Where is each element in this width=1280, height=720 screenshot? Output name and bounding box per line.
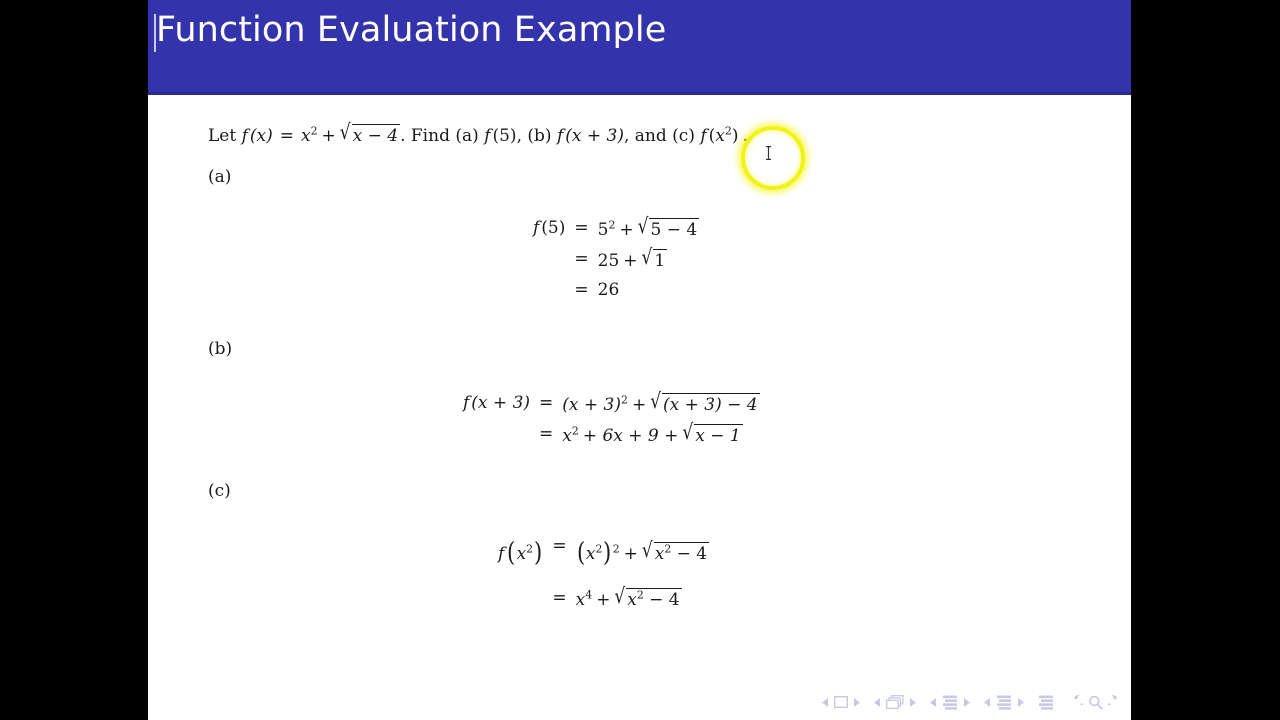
text-ibeam-cursor xyxy=(765,145,772,161)
equation-c-line2-radicand: x2 − 4 xyxy=(626,588,681,610)
prev-slide-triangle-icon[interactable] xyxy=(874,698,881,707)
magnifier-icon[interactable] xyxy=(1088,695,1103,710)
equation-b-rhs-exp: 2 xyxy=(621,393,628,406)
subsection-bars-icon[interactable] xyxy=(942,695,958,710)
equation-c-line2-radicand-tail: − 4 xyxy=(649,590,679,610)
equation-c-lhs-arg-base: x xyxy=(517,544,527,564)
video-stage: Function Evaluation Example Let f(x)=x2+… xyxy=(0,0,1280,720)
problem-part-c-label: (c) xyxy=(672,126,695,146)
back-arrow-icon[interactable] xyxy=(1068,695,1083,710)
equation-block-b: f(x + 3) = (x + 3)2+√(x + 3) − 4 = x2+ 6… xyxy=(463,393,760,446)
equation-a-line1-rhs: 52+√5 − 4 xyxy=(598,218,700,240)
equation-b-rhs-group: (x + 3) xyxy=(562,395,621,415)
problem-part-a-arg: (5) xyxy=(492,126,516,146)
equation-b-line2-base: x xyxy=(562,426,572,446)
equation-b-radical: √(x + 3) − 4 xyxy=(650,393,759,415)
forward-arrow-icon[interactable] xyxy=(1108,695,1123,710)
nav-group-slide[interactable] xyxy=(874,695,916,709)
equation-a-line3-rel: = xyxy=(565,280,597,300)
equation-b-line2-radical: √x − 1 xyxy=(682,424,742,446)
equation-block-c: f(x2) = (x2)2+√x2 − 4 = x4+√x2 − 4 xyxy=(498,536,709,610)
nav-group-section[interactable] xyxy=(984,695,1024,710)
slide-stack-icon[interactable] xyxy=(886,695,904,709)
equation-c-line2-rel: = xyxy=(543,588,575,610)
problem-lead: Let xyxy=(208,126,236,146)
equation-a-rhs-op: + xyxy=(615,220,637,240)
problem-period: . xyxy=(400,126,405,146)
prev-subsection-triangle-icon[interactable] xyxy=(930,698,937,707)
equation-c-rhs-group-base: x xyxy=(586,544,596,564)
problem-part-b-fn: f xyxy=(557,126,565,146)
equation-b-line2-rhs: x2+ 6x + 9 +√x − 1 xyxy=(562,424,759,446)
equation-a-line2-lhs xyxy=(533,249,565,271)
radical-sign-icon: √ xyxy=(642,245,654,270)
equation-a-radical: √5 − 4 xyxy=(638,218,700,240)
equation-a-line2-rhs: 25+√1 xyxy=(598,249,700,271)
equation-a-line2-radical: √1 xyxy=(642,249,668,271)
equation-block-a: f(5) = 52+√5 − 4 = 25+√1 = 26 xyxy=(533,218,699,300)
next-section-triangle-icon[interactable] xyxy=(1017,698,1024,707)
slide-title-bar: Function Evaluation Example xyxy=(148,0,1131,94)
problem-comma-2: , xyxy=(624,126,629,146)
equation-c-line2-op: + xyxy=(592,590,614,610)
equation-a-lhs-arg: (5) xyxy=(541,218,565,238)
radical-sign-icon: √ xyxy=(638,214,650,239)
equation-a-line2-op: + xyxy=(619,251,641,271)
equation-a-line3-lhs xyxy=(533,280,565,300)
equation-a-line2-rel: = xyxy=(565,249,597,271)
problem-part-c-arg-base: x xyxy=(715,126,725,146)
equation-c-lhs-fn: f xyxy=(498,544,506,564)
problem-square-base: x xyxy=(301,126,311,146)
equation-c-lhs-arg-exp: 2 xyxy=(526,542,533,555)
equation-c-rhs-paren-close: ) xyxy=(603,538,611,568)
beamer-navigation-bar[interactable] xyxy=(148,690,1131,714)
problem-instruction: Find xyxy=(411,126,450,146)
problem-fn-arg: (x) xyxy=(250,126,273,146)
equation-a-rhs-base: 5 xyxy=(598,220,609,240)
equation-c-lhs-paren-close: ) xyxy=(534,538,542,568)
equation-c-radical: √x2 − 4 xyxy=(642,542,709,564)
equation-b-line2-exp: 2 xyxy=(572,424,579,437)
equation-a-line1-rel: = xyxy=(565,218,597,240)
equation-c-rhs-op: + xyxy=(620,544,642,564)
part-label-b: (b) xyxy=(208,339,232,359)
presentation-slide: Function Evaluation Example Let f(x)=x2+… xyxy=(148,0,1131,720)
problem-part-c-arg-exp: 2 xyxy=(725,124,732,137)
title-bar-rule xyxy=(148,92,1131,95)
equation-c-radicand: x2 − 4 xyxy=(654,542,709,564)
radical-sign-icon: √ xyxy=(642,538,654,563)
equation-c-line2-base: x xyxy=(576,590,586,610)
prev-frame-triangle-icon[interactable] xyxy=(822,698,829,707)
equation-c-line2-radicand-exp: 2 xyxy=(637,588,644,601)
equation-a-line3-rhs: 26 xyxy=(598,280,700,300)
equation-c-radicand-tail: − 4 xyxy=(677,544,707,564)
equation-a-line2-radicand: 1 xyxy=(653,249,667,271)
nav-group-frame[interactable] xyxy=(822,696,860,708)
equation-b-rhs-op: + xyxy=(628,395,650,415)
problem-radical: √x − 4 xyxy=(340,124,400,146)
equation-c-line1-rhs: (x2)2+√x2 − 4 xyxy=(576,536,709,566)
frame-square-icon[interactable] xyxy=(834,696,848,708)
equation-b-line2-lhs xyxy=(463,424,530,446)
equation-c-rhs-group-exp: 2 xyxy=(596,542,603,555)
problem-part-c-fn: f xyxy=(700,126,708,146)
equation-b-line1-rhs: (x + 3)2+√(x + 3) − 4 xyxy=(562,393,759,415)
prev-section-triangle-icon[interactable] xyxy=(984,698,991,707)
equation-c-line1-lhs: f(x2) xyxy=(498,536,543,566)
page-title: Function Evaluation Example xyxy=(156,10,666,50)
equation-b-line2-radicand: x − 1 xyxy=(694,424,742,446)
equation-b-line1-rel: = xyxy=(530,393,562,415)
problem-and: and xyxy=(635,126,667,146)
problem-plus: + xyxy=(318,126,340,146)
equation-c-line2-lhs xyxy=(498,588,543,610)
equation-c-radicand-base: x xyxy=(655,544,665,564)
problem-comma-1: , xyxy=(517,126,522,146)
equation-a-radicand: 5 − 4 xyxy=(649,218,699,240)
equation-c-line2-radicand-base: x xyxy=(627,590,637,610)
problem-final-period: . xyxy=(738,126,747,146)
equation-c-line1-rel: = xyxy=(543,536,575,566)
next-slide-triangle-icon[interactable] xyxy=(909,698,916,707)
yellow-highlight-circle-annotation xyxy=(741,126,805,190)
equation-c-lhs-paren-open: ( xyxy=(507,538,515,568)
equation-c-radicand-exp: 2 xyxy=(664,542,671,555)
radical-sign-icon: √ xyxy=(340,120,352,145)
problem-fn-name: f xyxy=(242,126,250,146)
problem-equals: = xyxy=(273,126,301,146)
problem-part-b-label: (b) xyxy=(527,126,551,146)
equation-b-line2-mid: + 6x + 9 + xyxy=(579,426,683,446)
part-label-c: (c) xyxy=(208,481,231,501)
equation-c-rhs-outer-exp: 2 xyxy=(613,542,620,555)
equation-c-line2-radical: √x2 − 4 xyxy=(614,588,681,610)
problem-statement: Let f(x)=x2+√x − 4. Find (a) f(5), (b) f… xyxy=(208,124,748,146)
problem-part-a-label: (a) xyxy=(455,126,478,146)
problem-radicand: x − 4 xyxy=(352,124,400,146)
equation-c-line2-rhs: x4+√x2 − 4 xyxy=(576,588,709,610)
problem-square-exp: 2 xyxy=(311,124,318,137)
problem-part-b-arg: (x + 3) xyxy=(565,126,624,146)
nav-group-zoom[interactable] xyxy=(1068,695,1123,710)
nav-group-subsection[interactable] xyxy=(930,695,970,710)
radical-sign-icon: √ xyxy=(614,584,626,609)
radical-sign-icon: √ xyxy=(682,420,694,445)
equation-b-lhs-arg: (x + 3) xyxy=(471,393,530,413)
equation-c-rhs-paren-open: ( xyxy=(577,538,585,568)
part-label-a: (a) xyxy=(208,167,231,187)
presentation-bars-icon[interactable] xyxy=(1038,695,1054,710)
section-bars-icon[interactable] xyxy=(996,695,1012,710)
nav-group-presentation[interactable] xyxy=(1038,695,1054,710)
equation-a-line2-lead: 25 xyxy=(598,251,620,271)
equation-b-line2-rel: = xyxy=(530,424,562,446)
equation-b-radicand: (x + 3) − 4 xyxy=(662,393,760,415)
equation-b-line1-lhs: f(x + 3) xyxy=(463,393,530,415)
radical-sign-icon: √ xyxy=(650,389,662,414)
equation-a-line1-lhs: f(5) xyxy=(533,218,565,240)
next-subsection-triangle-icon[interactable] xyxy=(963,698,970,707)
next-frame-triangle-icon[interactable] xyxy=(853,698,860,707)
